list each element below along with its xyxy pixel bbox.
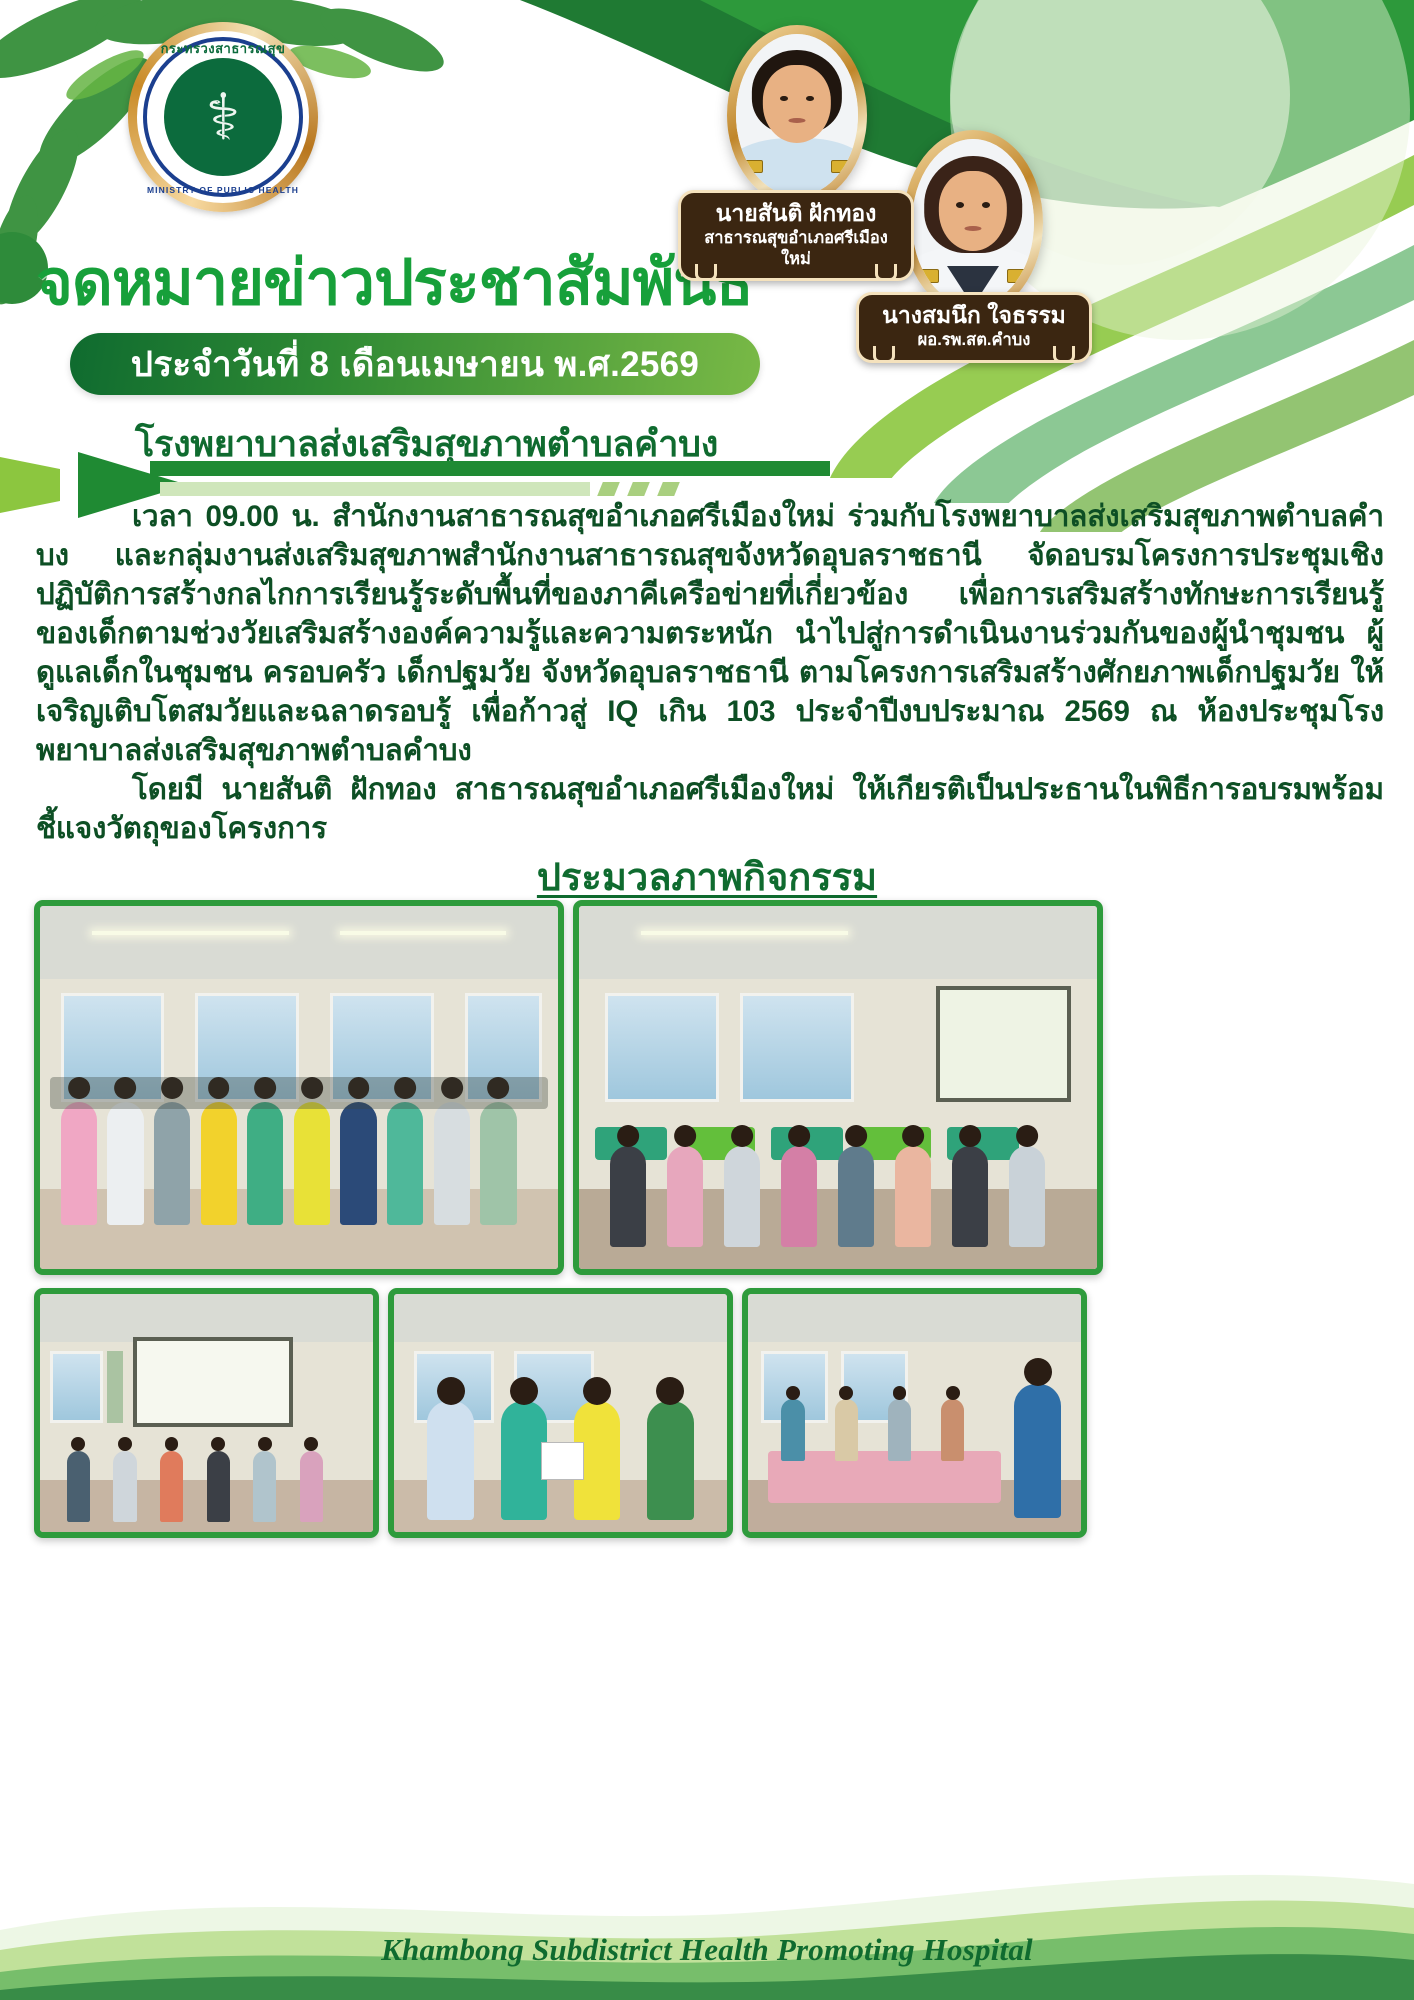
- article-body: เวลา 09.00 น. สำนักงานสาธารณสุขอำเภอศรีเ…: [36, 497, 1384, 848]
- nameplate-official-2: นางสมนึก ใจธรรม ผอ.รพ.สต.คำบง: [856, 292, 1092, 363]
- ministry-of-public-health-seal-icon: กระทรวงสาธารณสุข ⚕ MINISTRY OF PUBLIC HE…: [128, 22, 318, 212]
- caduceus-icon: ⚕: [206, 85, 241, 149]
- date-banner-label: ประจำวันที่ 8 เดือนเมษายน พ.ศ.2569: [131, 337, 699, 392]
- divider-tick-2: [627, 482, 650, 496]
- nameplate-official-1: นายสันติ ฝักทอง สาธารณสุขอำเภอศรีเมืองให…: [678, 190, 914, 281]
- gallery-photo-3[interactable]: [34, 1288, 379, 1538]
- article-paragraph-2: โดยมี นายสันติ ฝักทอง สาธารณสุขอำเภอศรีเ…: [36, 770, 1384, 848]
- date-banner: ประจำวันที่ 8 เดือนเมษายน พ.ศ.2569: [70, 333, 760, 395]
- divider-rule-dark: [150, 461, 830, 476]
- seal-english-text: MINISTRY OF PUBLIC HEALTH: [128, 185, 318, 195]
- official-1-name: นายสันติ ฝักทอง: [691, 200, 901, 227]
- official-1-role: สาธารณสุขอำเภอศรีเมืองใหม่: [691, 228, 901, 269]
- footer-hospital-name: Khambong Subdistrict Health Promoting Ho…: [0, 1932, 1414, 1968]
- official-2-role: ผอ.รพ.สต.คำบง: [869, 330, 1079, 351]
- divider-tick-1: [597, 482, 620, 496]
- page-title: จดหมายข่าวประชาสัมพันธ์: [36, 232, 753, 332]
- gallery-heading: ประมวลภาพกิจกรรม: [0, 846, 1414, 907]
- article-paragraph-1: เวลา 09.00 น. สำนักงานสาธารณสุขอำเภอศรีเ…: [36, 497, 1384, 770]
- avatar-official-1: [727, 25, 867, 205]
- gallery-photo-2[interactable]: [573, 900, 1103, 1275]
- gallery-photo-1[interactable]: [34, 900, 564, 1275]
- avatar-official-2: [903, 130, 1043, 315]
- seal-core: ⚕: [164, 58, 282, 176]
- gallery-photo-5[interactable]: [742, 1288, 1087, 1538]
- poster-header: กระทรวงสาธารณสุข ⚕ MINISTRY OF PUBLIC HE…: [0, 0, 1414, 430]
- gallery-photo-4[interactable]: [388, 1288, 733, 1538]
- divider-tick-3: [657, 482, 680, 496]
- divider-rule-light: [160, 482, 590, 496]
- official-2-name: นางสมนึก ใจธรรม: [869, 302, 1079, 329]
- seal-thai-text: กระทรวงสาธารณสุข: [128, 38, 318, 59]
